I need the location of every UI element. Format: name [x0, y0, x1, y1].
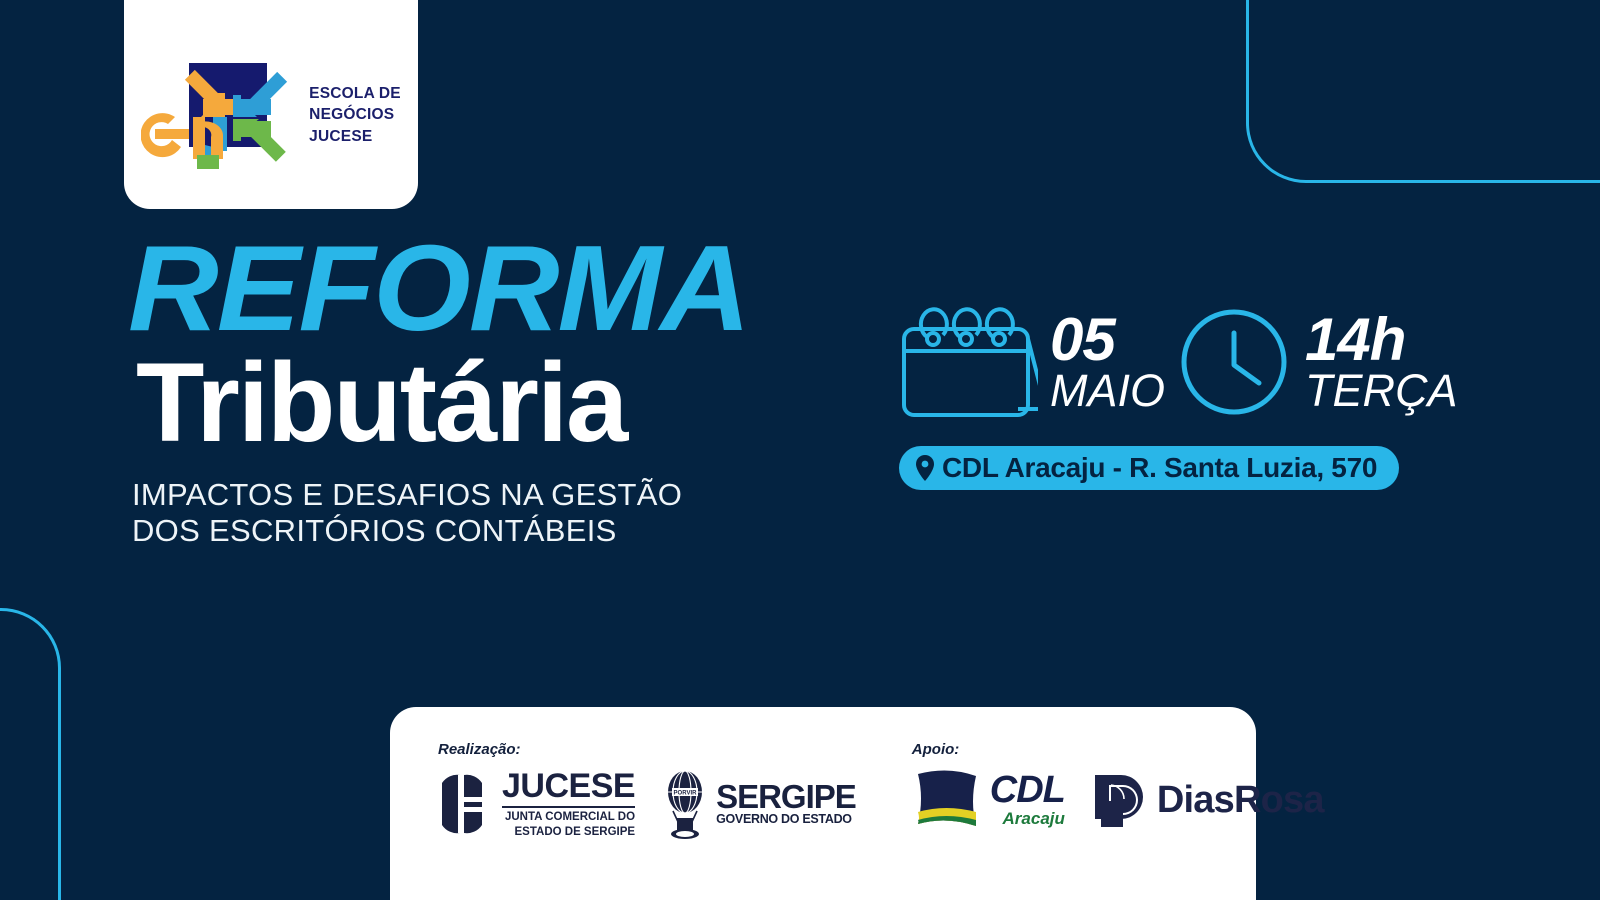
decorative-corner-bottom-left — [0, 608, 61, 900]
enj-logo-icon — [141, 55, 301, 175]
sergipe-name: SERGIPE — [716, 781, 856, 812]
sponsor-group-label: Realização: — [438, 741, 856, 758]
event-location-text: CDL Aracaju - R. Santa Luzia, 570 — [942, 452, 1377, 484]
event-location-pill: CDL Aracaju - R. Santa Luzia, 570 — [899, 446, 1399, 490]
sergipe-wordmark: SERGIPE GOVERNO DO ESTADO — [716, 781, 856, 826]
sponsor-sergipe: PORVIR SERGIPE GOVERNO DO ESTADO — [661, 768, 856, 840]
cdl-wordmark: CDL Aracaju — [990, 773, 1065, 827]
sergipe-balloon-badge-text: PORVIR — [674, 791, 698, 797]
sponsor-group-realizacao: Realização: JUCESE JUN — [438, 741, 856, 840]
brand-tagline-line1: ESCOLA DE — [309, 83, 401, 104]
jucese-wordmark: JUCESE JUNTA COMERCIAL DO ESTADO DE SERG… — [502, 769, 635, 838]
brand-tagline-line2: NEGÓCIOS — [309, 104, 401, 125]
jucese-divider — [502, 806, 635, 808]
event-poster: ESCOLA DE NEGÓCIOS JUCESE REFORMA Tribut… — [0, 0, 1600, 900]
brand-logo-card: ESCOLA DE NEGÓCIOS JUCESE — [124, 0, 418, 209]
cdl-sub-line1: Aracaju — [990, 810, 1065, 827]
jucese-mark-icon — [438, 773, 494, 835]
page-description-line1: IMPACTOS E DESAFIOS NA GESTÃO — [132, 477, 731, 514]
diasrosa-mark-icon — [1091, 771, 1147, 829]
headline-block: REFORMA Tributária IMPACTOS E DESAFIOS N… — [128, 236, 731, 550]
decorative-corner-top-right — [1246, 0, 1600, 183]
cdl-name: CDL — [990, 773, 1065, 808]
event-date-day: 05 — [1050, 311, 1165, 370]
event-info-row: 05 MAIO 14h TERÇA — [892, 303, 1458, 421]
sergipe-sub-line1: GOVERNO DO ESTADO — [716, 813, 856, 827]
cdl-flag-icon — [912, 768, 984, 832]
event-time-text: 14h TERÇA — [1305, 311, 1458, 414]
sponsor-group-label: Apoio: — [912, 741, 1324, 758]
brand-tagline: ESCOLA DE NEGÓCIOS JUCESE — [309, 83, 401, 147]
event-time-hour: 14h — [1305, 311, 1458, 370]
event-time-weekday: TERÇA — [1305, 369, 1458, 413]
sponsor-groups: Realização: JUCESE JUN — [390, 707, 1256, 840]
brand-logo-inner: ESCOLA DE NEGÓCIOS JUCESE — [141, 55, 401, 175]
event-date-month: MAIO — [1050, 369, 1165, 413]
sponsor-logo-list: JUCESE JUNTA COMERCIAL DO ESTADO DE SERG… — [438, 768, 856, 840]
clock-icon — [1175, 303, 1293, 421]
sponsors-card: Realização: JUCESE JUN — [390, 707, 1256, 900]
event-date: 05 MAIO — [892, 303, 1165, 421]
sponsor-jucese: JUCESE JUNTA COMERCIAL DO ESTADO DE SERG… — [438, 769, 635, 838]
sponsor-diasrosa: DiasRosa — [1091, 771, 1324, 829]
page-title: REFORMA — [128, 236, 749, 341]
map-pin-icon — [915, 455, 935, 481]
brand-tagline-line3: JUCESE — [309, 126, 401, 147]
sponsor-logo-list: CDL Aracaju DiasRosa — [912, 768, 1324, 832]
sergipe-balloon-icon: PORVIR — [661, 768, 709, 840]
event-date-text: 05 MAIO — [1050, 311, 1165, 414]
calendar-icon — [892, 303, 1038, 421]
sponsor-group-apoio: Apoio: CDL Aracaju — [912, 741, 1324, 832]
jucese-sub-line2: ESTADO DE SERGIPE — [502, 825, 635, 839]
diasrosa-name: DiasRosa — [1157, 781, 1324, 819]
page-description: IMPACTOS E DESAFIOS NA GESTÃO DOS ESCRIT… — [132, 477, 731, 550]
page-description-line2: DOS ESCRITÓRIOS CONTÁBEIS — [132, 513, 731, 550]
jucese-name: JUCESE — [502, 769, 635, 803]
sponsor-cdl: CDL Aracaju — [912, 768, 1065, 832]
page-subtitle: Tributária — [136, 347, 731, 459]
jucese-sub-line1: JUNTA COMERCIAL DO — [502, 810, 635, 824]
event-time: 14h TERÇA — [1175, 303, 1458, 421]
